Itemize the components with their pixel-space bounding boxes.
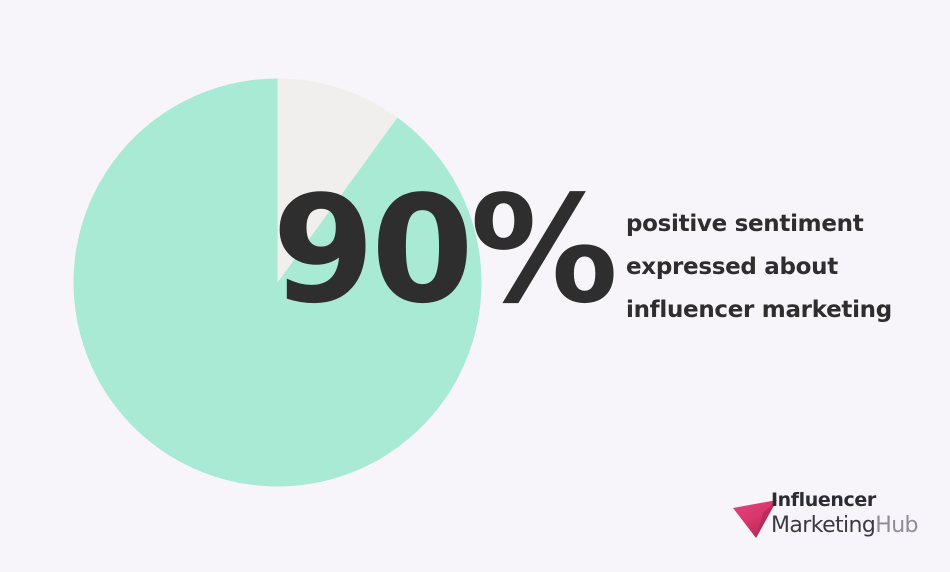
logo-line-influencer: Influencer [771, 489, 926, 512]
logo-word-marketing: Marketing [771, 513, 875, 538]
logo-wordmark: Influencer MarketingHub [771, 489, 926, 539]
caption-line-3: influencer marketing [626, 289, 926, 332]
logo-word-hub: Hub [875, 513, 918, 538]
logo-line-marketinghub: MarketingHub [771, 512, 926, 539]
caption-block: positive sentiment expressed about influ… [626, 203, 926, 332]
brand-logo: Influencer MarketingHub [733, 489, 923, 545]
stat-value: 90% [272, 176, 614, 324]
infographic-canvas: 90% positive sentiment expressed about i… [0, 0, 950, 572]
caption-line-1: positive sentiment [626, 203, 926, 246]
caption-line-2: expressed about [626, 246, 926, 289]
